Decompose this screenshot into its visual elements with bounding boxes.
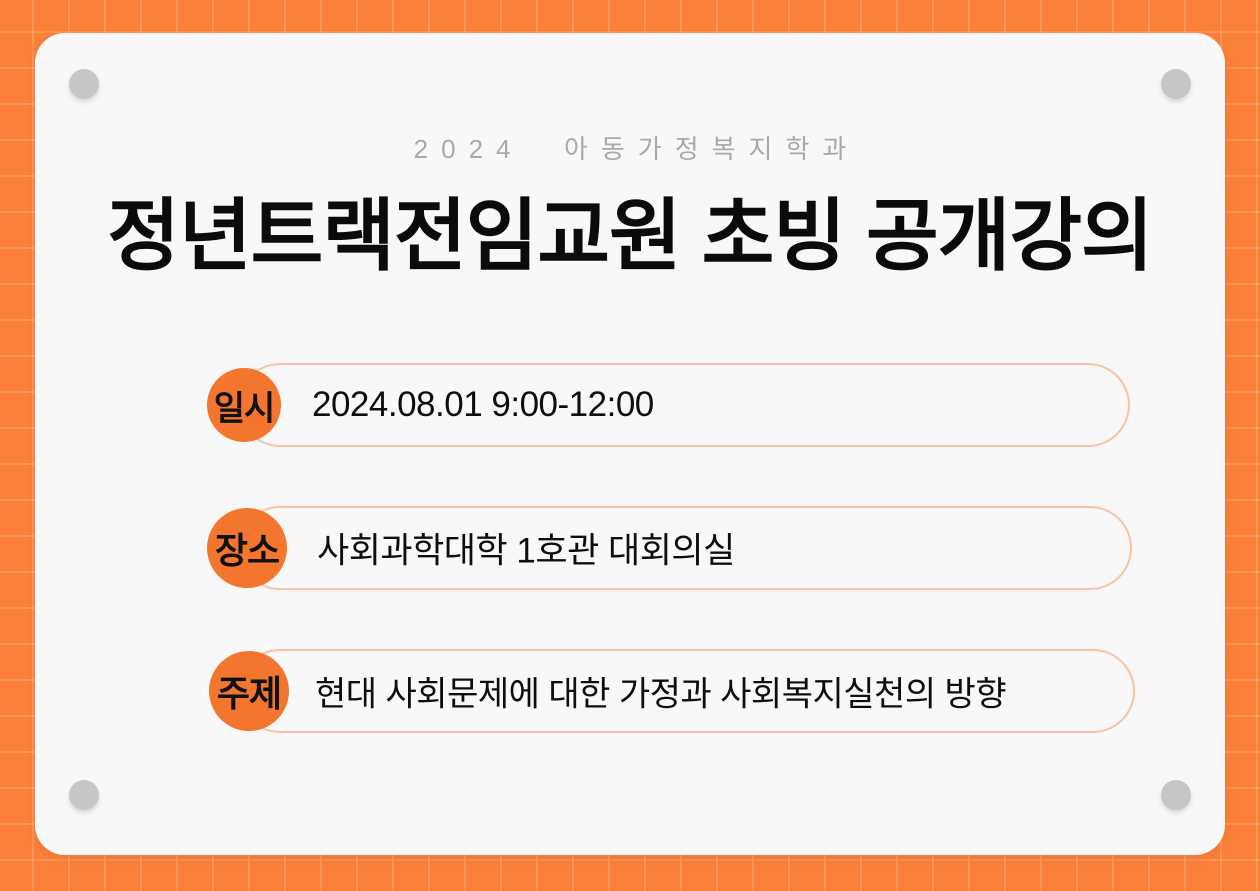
- info-label-badge-topic: 주제: [209, 651, 289, 731]
- poster-card: 2024 아동가정복지학과 정년트랙전임교원 초빙 공개강의 일시 2024.0…: [35, 33, 1225, 855]
- poster-canvas: 2024 아동가정복지학과 정년트랙전임교원 초빙 공개강의 일시 2024.0…: [0, 0, 1260, 891]
- pin-top-left-icon: [69, 69, 99, 99]
- info-label-badge-location: 장소: [207, 508, 287, 588]
- info-value-date: 2024.08.01 9:00-12:00: [312, 385, 654, 425]
- page-title: 정년트랙전임교원 초빙 공개강의: [35, 192, 1225, 280]
- info-row-date: 일시 2024.08.01 9:00-12:00: [35, 363, 1260, 447]
- pin-top-right-icon: [1161, 69, 1191, 99]
- pin-bottom-left-icon: [69, 780, 99, 810]
- info-value-location: 사회과학대학 1호관 대회의실: [317, 523, 735, 574]
- department-eyebrow: 2024 아동가정복지학과: [35, 129, 1225, 166]
- info-row-topic: 주제 현대 사회문제에 대한 가정과 사회복지실천의 방향: [35, 649, 1260, 733]
- info-row-list: 일시 2024.08.01 9:00-12:00 장소 사회과학대학 1호관 대…: [35, 363, 1260, 733]
- info-row-location: 장소 사회과학대학 1호관 대회의실: [35, 506, 1260, 590]
- pin-bottom-right-icon: [1161, 780, 1191, 810]
- info-label-badge-date: 일시: [207, 368, 281, 442]
- info-value-topic: 현대 사회문제에 대한 가정과 사회복지실천의 방향: [315, 667, 1006, 716]
